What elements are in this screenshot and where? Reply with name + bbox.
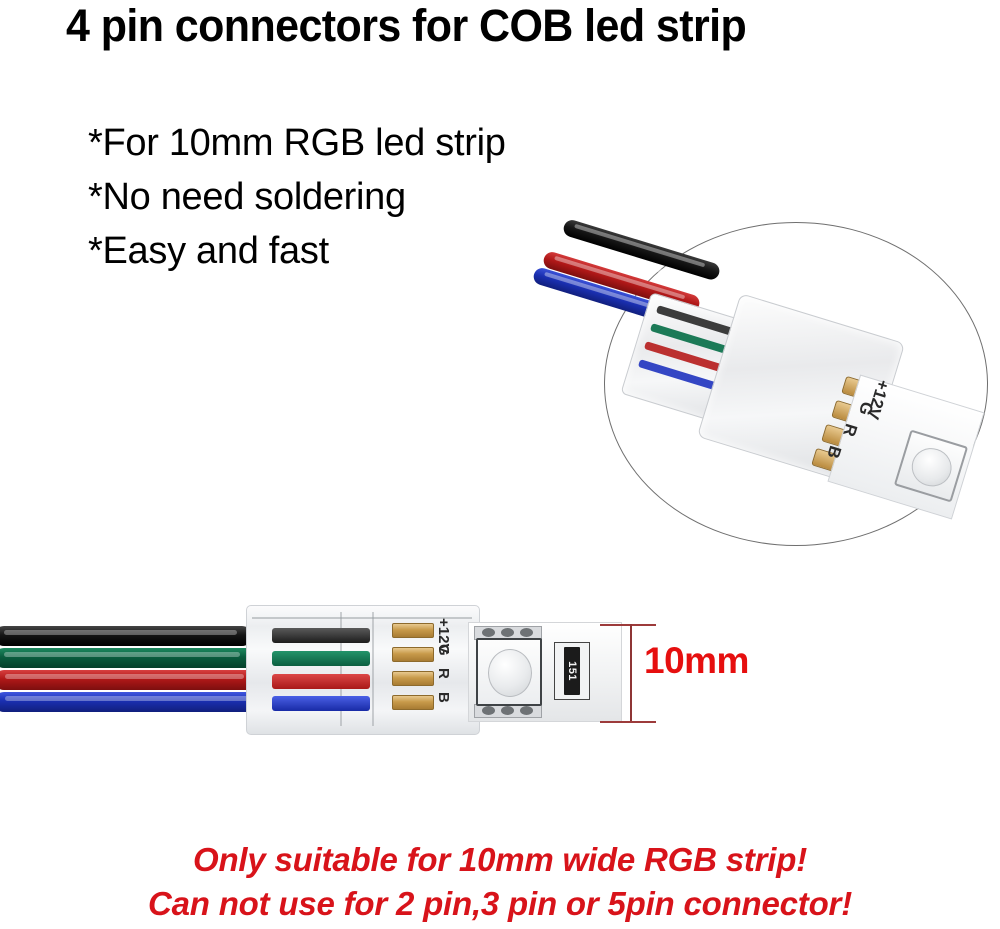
- resistor: 151: [554, 642, 590, 700]
- dimension-tick-bottom: [600, 721, 656, 723]
- contact-pad-b: [392, 695, 434, 710]
- dimension-label: 10mm: [644, 640, 749, 682]
- black-wire: [0, 626, 252, 646]
- led-pin-5: [501, 706, 514, 715]
- led-pin-2: [501, 628, 514, 637]
- warning-text: Only suitable for 10mm wide RGB strip! C…: [0, 838, 1000, 926]
- zoom-detail-circle: +12V G R B: [604, 222, 988, 546]
- red-wire: [0, 670, 260, 690]
- resistor-code: 151: [566, 661, 578, 681]
- warning-line-2: Can not use for 2 pin,3 pin or 5pin conn…: [0, 882, 1000, 926]
- blue-wire-tip: [272, 696, 370, 711]
- pad-label-r: R: [435, 668, 452, 679]
- wire-highlight: [5, 674, 244, 679]
- led-chip-5050: [476, 638, 542, 706]
- led-pin-1: [482, 628, 495, 637]
- contact-pad-r: [392, 671, 434, 686]
- page-title: 4 pin connectors for COB led strip: [66, 2, 954, 49]
- feature-item-1: *For 10mm RGB led strip: [88, 116, 648, 170]
- dimension-tick-top: [600, 624, 656, 626]
- contact-pad-g: [392, 647, 434, 662]
- zoom-detail-content: +12V G R B: [605, 223, 987, 545]
- wire-highlight: [4, 652, 240, 657]
- red-wire-tip: [272, 674, 370, 689]
- wire-highlight: [4, 630, 236, 635]
- pad-label-g: G: [435, 644, 452, 656]
- warning-line-1: Only suitable for 10mm wide RGB strip!: [0, 838, 1000, 882]
- wire-highlight: [5, 696, 248, 701]
- contact-pad-12v: [392, 623, 434, 638]
- led-dome: [488, 649, 532, 697]
- product-infographic: { "headline": "4 pin connectors for COB …: [0, 0, 1000, 929]
- feature-item-2: *No need soldering: [88, 170, 648, 224]
- led-pin-3: [520, 628, 533, 637]
- pad-label-b: B: [435, 692, 452, 703]
- black-wire-tip: [272, 628, 370, 643]
- dimension-line: [630, 624, 632, 721]
- blue-wire: [0, 692, 264, 712]
- connector-rib-2: [372, 612, 374, 726]
- green-wire-tip: [272, 651, 370, 666]
- led-pin-4: [482, 706, 495, 715]
- resistor-body: 151: [564, 647, 580, 694]
- inset-led-dome: [907, 443, 957, 492]
- product-photo: +12V G R B 151: [0, 590, 620, 755]
- led-pin-6: [520, 706, 533, 715]
- green-wire: [0, 648, 256, 668]
- dimension-callout: 10mm: [600, 618, 810, 733]
